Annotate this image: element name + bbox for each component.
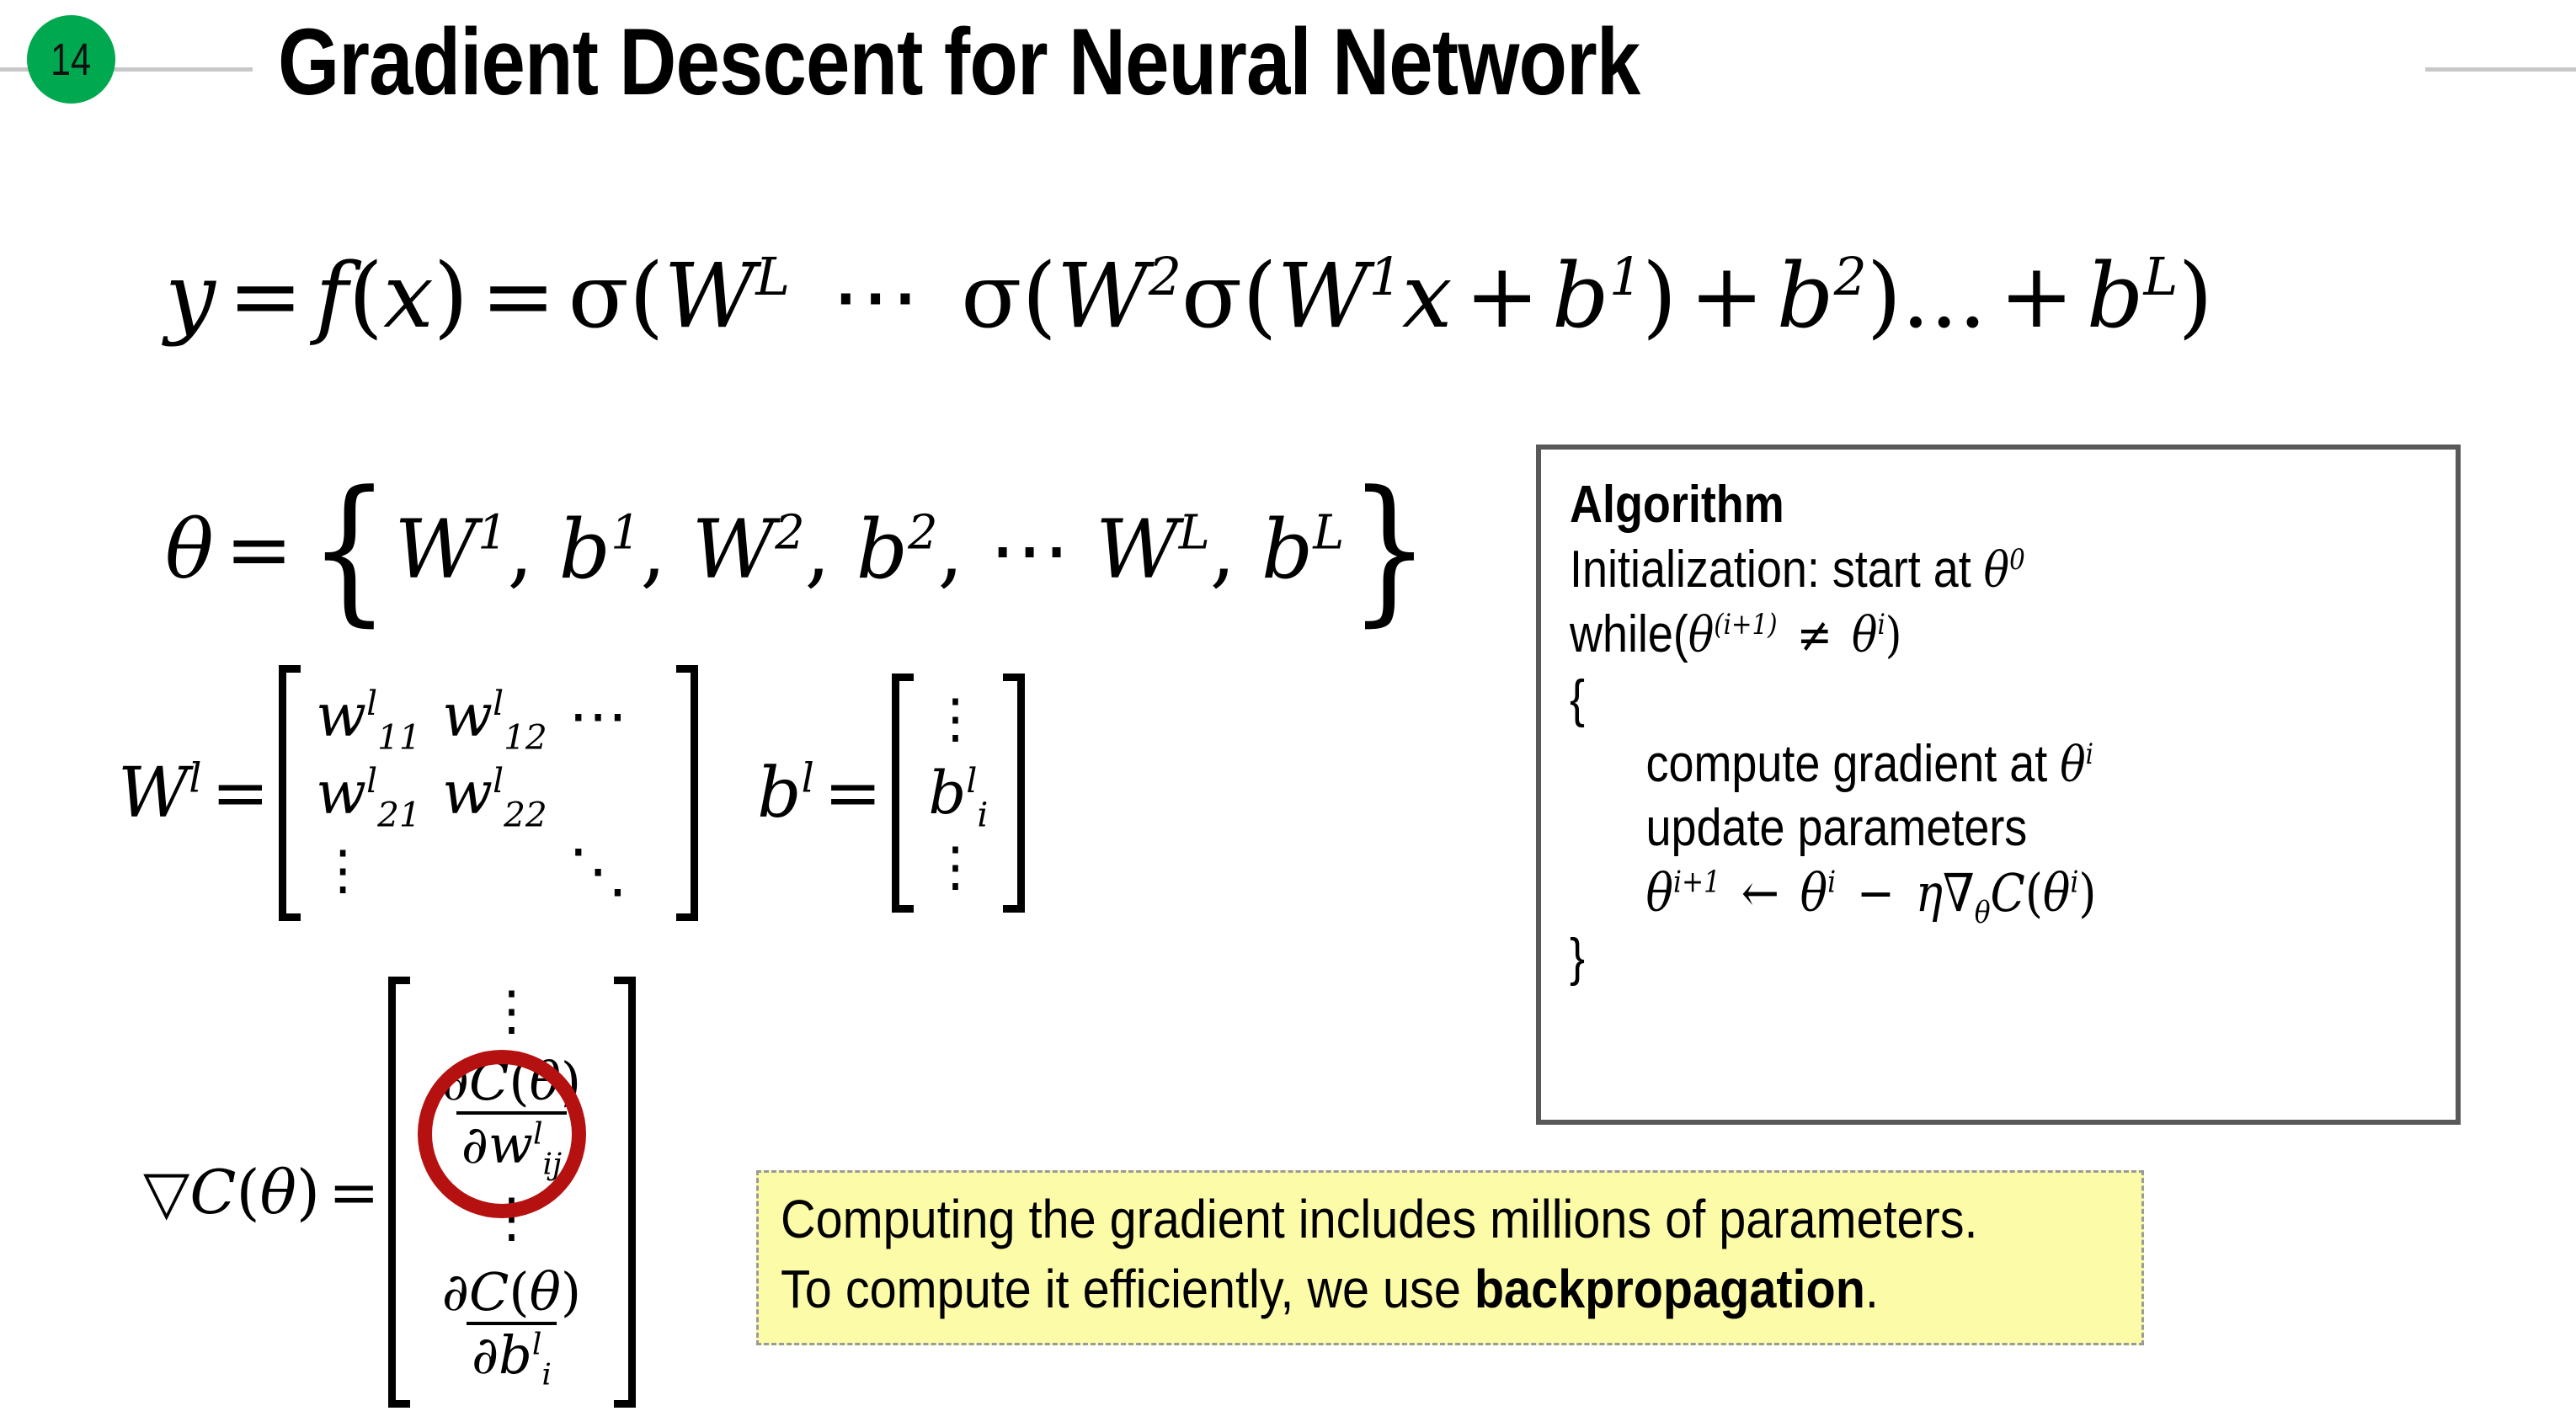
callout-emphasis-backpropagation: backpropagation <box>1475 1259 1865 1319</box>
slide-header: 14 Gradient Descent for Neural Network <box>0 0 2576 126</box>
gradient-vector-brackets: ⋮ ∂C(θ) ∂wlij ⋮ ∂C(θ) <box>388 977 636 1408</box>
callout-line2-suffix: . <box>1865 1259 1879 1319</box>
matrix-row: wl11 wl12 ⋯ <box>316 677 661 754</box>
bracket-left-icon <box>388 977 410 1408</box>
algorithm-while-label: while( <box>1570 605 1688 663</box>
bracket-right-icon <box>1003 674 1025 913</box>
algorithm-line-close-brace: } <box>1570 926 2316 991</box>
algorithm-line-initialization: Initialization: start at θ0 <box>1570 538 2316 603</box>
slide-number-badge: 14 <box>27 15 115 104</box>
equation-forward-pass: y=f(x)=σ(WL ⋯ σ(W2σ(W1x+b1)+b2)...+bL) <box>165 244 2213 348</box>
eq-forward-f: f <box>315 244 348 348</box>
algorithm-compute-label: compute gradient at <box>1645 735 2047 793</box>
algorithm-line-update-parameters: update parameters <box>1570 796 2316 861</box>
fraction-dC-dw: ∂C(θ) ∂wlij <box>437 1054 586 1171</box>
bracket-right-icon <box>676 665 698 921</box>
slide-canvas: 14 Gradient Descent for Neural Network y… <box>0 0 2576 1427</box>
weight-matrix-lhs: Wl= <box>118 753 279 833</box>
callout-box: Computing the gradient includes millions… <box>756 1170 2144 1345</box>
algorithm-line-open-brace: { <box>1570 668 2316 732</box>
algorithm-line-update-rule: θi+1 ← θi − η∇θC(θi) <box>1570 861 2316 926</box>
weight-matrix-body: wl11 wl12 ⋯ wl21 wl22 ⋮ ⋱ <box>301 665 676 921</box>
matrix-row-dc-db: ∂C(θ) ∂bli <box>424 1248 600 1399</box>
callout-line2-prefix: To compute it efficiently, we use <box>781 1259 1475 1319</box>
slide-number-label: 14 <box>51 37 91 83</box>
algorithm-box: Algorithm Initialization: start at θ0 wh… <box>1536 445 2461 1125</box>
fraction-dC-db: ∂C(θ) ∂bli <box>437 1265 586 1382</box>
equation-weight-and-bias-definitions: Wl= wl11 wl12 ⋯ wl21 wl22 ⋮ ⋱ <box>118 665 1025 921</box>
callout-line-2: To compute it efficiently, we use backpr… <box>781 1254 1986 1324</box>
header-rule-right <box>2425 67 2576 72</box>
matrix-row: ⋮ <box>929 833 989 901</box>
gradient-vector-body: ⋮ ∂C(θ) ∂wlij ⋮ ∂C(θ) <box>410 977 614 1408</box>
bias-vector-brackets: ⋮ bli ⋮ <box>892 674 1026 913</box>
algorithm-title: Algorithm <box>1570 473 2316 538</box>
algorithm-line-while: while(θ(i+1) ≠ θi) <box>1570 603 2316 668</box>
callout-line-1: Computing the gradient includes millions… <box>781 1185 1986 1254</box>
equation-gradient-vector: ▽C(θ)= ⋮ ∂C(θ) ∂wlij ⋮ <box>143 977 636 1408</box>
bracket-right-icon <box>614 977 636 1408</box>
bracket-left-icon <box>892 674 914 913</box>
matrix-row: bli <box>929 753 989 833</box>
eq-forward-y: y <box>165 244 216 348</box>
bias-vector-body: ⋮ bli ⋮ <box>914 674 1004 913</box>
matrix-row: ⋮ <box>424 985 600 1037</box>
algorithm-init-label: Initialization: start at <box>1570 540 1971 599</box>
bias-vector-lhs: bl= <box>757 753 891 833</box>
weight-matrix-brackets: wl11 wl12 ⋯ wl21 wl22 ⋮ ⋱ <box>279 665 698 921</box>
matrix-row: ⋮ <box>929 685 989 753</box>
matrix-row: ⋮ ⋱ <box>316 832 661 909</box>
equation-theta-parameter-set: θ={W1, b1, W2, b2, ⋯ WL, bL} <box>165 477 1435 623</box>
page-title: Gradient Descent for Neural Network <box>278 7 2075 116</box>
gradient-lhs: ▽C(θ)= <box>143 1157 388 1227</box>
algorithm-line-compute-gradient: compute gradient at θi <box>1570 732 2316 797</box>
matrix-row: ⋮ <box>424 1189 600 1248</box>
matrix-row-dc-dw: ∂C(θ) ∂wlij <box>424 1037 600 1189</box>
bracket-left-icon <box>279 665 301 921</box>
matrix-row: wl21 wl22 <box>316 754 661 832</box>
